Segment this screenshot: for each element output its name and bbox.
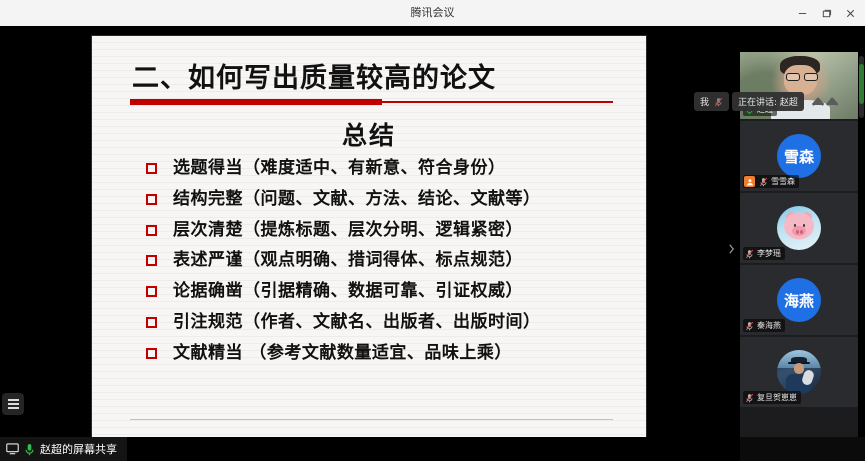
tencent-meeting-window: 腾讯会议 xyxy=(0,0,865,461)
participant-name: 复旦贺崽崽 xyxy=(757,392,797,403)
speaking-banner: 我 正在讲话: 赵超 xyxy=(694,92,841,111)
bullet-square-icon xyxy=(146,286,157,297)
bullet-square-icon xyxy=(146,225,157,236)
list-item: 引注规范（作者、文献名、出版者、出版时间） xyxy=(144,312,624,333)
sidebar-scrollbar-thumb[interactable] xyxy=(859,64,864,104)
list-item: 选题得当（难度适中、有新意、符合身份） xyxy=(144,158,624,179)
avatar: 雪森 xyxy=(777,134,821,178)
chevron-up-icon[interactable] xyxy=(811,95,841,108)
participants-list-button[interactable] xyxy=(2,393,24,415)
active-speaker-label: 正在讲话: 赵超 xyxy=(738,95,798,108)
maximize-icon xyxy=(821,8,832,19)
bullet-text: 表述严谨（观点明确、措词得体、标点规范） xyxy=(173,250,523,271)
slide-footer-rule xyxy=(130,419,613,420)
mic-muted-icon xyxy=(744,320,754,331)
mic-on-icon[interactable] xyxy=(24,443,35,456)
title-bar: 腾讯会议 xyxy=(0,0,865,27)
avatar: 海燕 xyxy=(777,278,821,322)
bullet-text: 论据确凿（引据精确、数据可靠、引证权威） xyxy=(173,281,523,302)
list-item: 结构完整（问题、文献、方法、结论、文献等） xyxy=(144,189,624,210)
bullet-square-icon xyxy=(146,255,157,266)
active-speaker-chip: 正在讲话: 赵超 xyxy=(732,92,804,111)
host-badge-icon xyxy=(744,176,755,187)
participant-nametag: 复旦贺崽崽 xyxy=(743,391,801,404)
shared-screen-slide[interactable]: 二、如何写出质量较高的论文 总结 选题得当（难度适中、有新意、符合身份） 结构完… xyxy=(92,36,646,437)
bullet-text: 引注规范（作者、文献名、出版者、出版时间） xyxy=(173,312,541,333)
status-bar: 赵超的屏幕共享 xyxy=(0,437,865,461)
participant-tile[interactable]: 李梦瑶 xyxy=(740,193,858,263)
mic-muted-icon xyxy=(758,176,768,187)
participant-nametag: 秦海燕 xyxy=(743,319,785,332)
mic-muted-icon[interactable] xyxy=(713,96,723,107)
sidebar-scrollbar[interactable] xyxy=(859,56,864,118)
participant-name: 雪雪森 xyxy=(771,176,795,187)
participant-name: 李梦瑶 xyxy=(757,248,781,259)
list-item: 论据确凿（引据精确、数据可靠、引证权威） xyxy=(144,281,624,302)
slide-title-rule-thick xyxy=(130,99,382,105)
status-bar-right-region xyxy=(740,437,865,461)
bullet-text: 文献精当 （参考文献数量适宜、品味上乘） xyxy=(173,343,512,364)
close-icon xyxy=(845,8,856,19)
bullet-square-icon xyxy=(146,317,157,328)
participant-nametag: 雪雪森 xyxy=(743,175,799,188)
participant-tile[interactable]: 海燕 秦海燕 xyxy=(740,265,858,335)
chevron-right-icon xyxy=(728,243,735,255)
list-item: 表述严谨（观点明确、措词得体、标点规范） xyxy=(144,250,624,271)
close-button[interactable] xyxy=(839,2,861,24)
avatar xyxy=(777,206,821,250)
window-controls xyxy=(791,0,861,26)
bullet-text: 结构完整（问题、文献、方法、结论、文献等） xyxy=(173,189,541,210)
slide-title: 二、如何写出质量较高的论文 xyxy=(132,56,612,95)
participant-tile[interactable]: 复旦贺崽崽 xyxy=(740,337,858,407)
self-label: 我 xyxy=(700,95,709,108)
maximize-button[interactable] xyxy=(815,2,837,24)
window-title: 腾讯会议 xyxy=(0,0,865,26)
self-chip[interactable]: 我 xyxy=(694,92,729,111)
bullet-text: 选题得当（难度适中、有新意、符合身份） xyxy=(173,158,506,179)
screen-share-indicator[interactable]: 赵超的屏幕共享 xyxy=(0,437,127,461)
slide-bullet-list: 选题得当（难度适中、有新意、符合身份） 结构完整（问题、文献、方法、结论、文献等… xyxy=(144,158,624,373)
avatar xyxy=(777,350,821,394)
list-item: 层次清楚（提炼标题、层次分明、逻辑紧密） xyxy=(144,220,624,241)
list-icon xyxy=(8,398,19,410)
bullet-text: 层次清楚（提炼标题、层次分明、逻辑紧密） xyxy=(173,220,523,241)
participant-name: 秦海燕 xyxy=(757,320,781,331)
minimize-icon xyxy=(797,8,808,19)
bullet-square-icon xyxy=(146,348,157,359)
mic-muted-icon xyxy=(744,392,754,403)
collapse-sidebar-handle[interactable] xyxy=(724,234,738,264)
participant-nametag: 李梦瑶 xyxy=(743,247,785,260)
bullet-square-icon xyxy=(146,163,157,174)
bullet-square-icon xyxy=(146,194,157,205)
monitor-icon xyxy=(6,443,19,455)
screen-share-label: 赵超的屏幕共享 xyxy=(40,441,117,457)
meeting-stage: 二、如何写出质量较高的论文 总结 选题得当（难度适中、有新意、符合身份） 结构完… xyxy=(0,26,865,437)
minimize-button[interactable] xyxy=(791,2,813,24)
list-item: 文献精当 （参考文献数量适宜、品味上乘） xyxy=(144,343,624,364)
participant-tile[interactable]: 雪森 雪雪森 xyxy=(740,121,858,191)
mic-muted-icon xyxy=(744,248,754,259)
slide-subtitle: 总结 xyxy=(92,116,646,152)
